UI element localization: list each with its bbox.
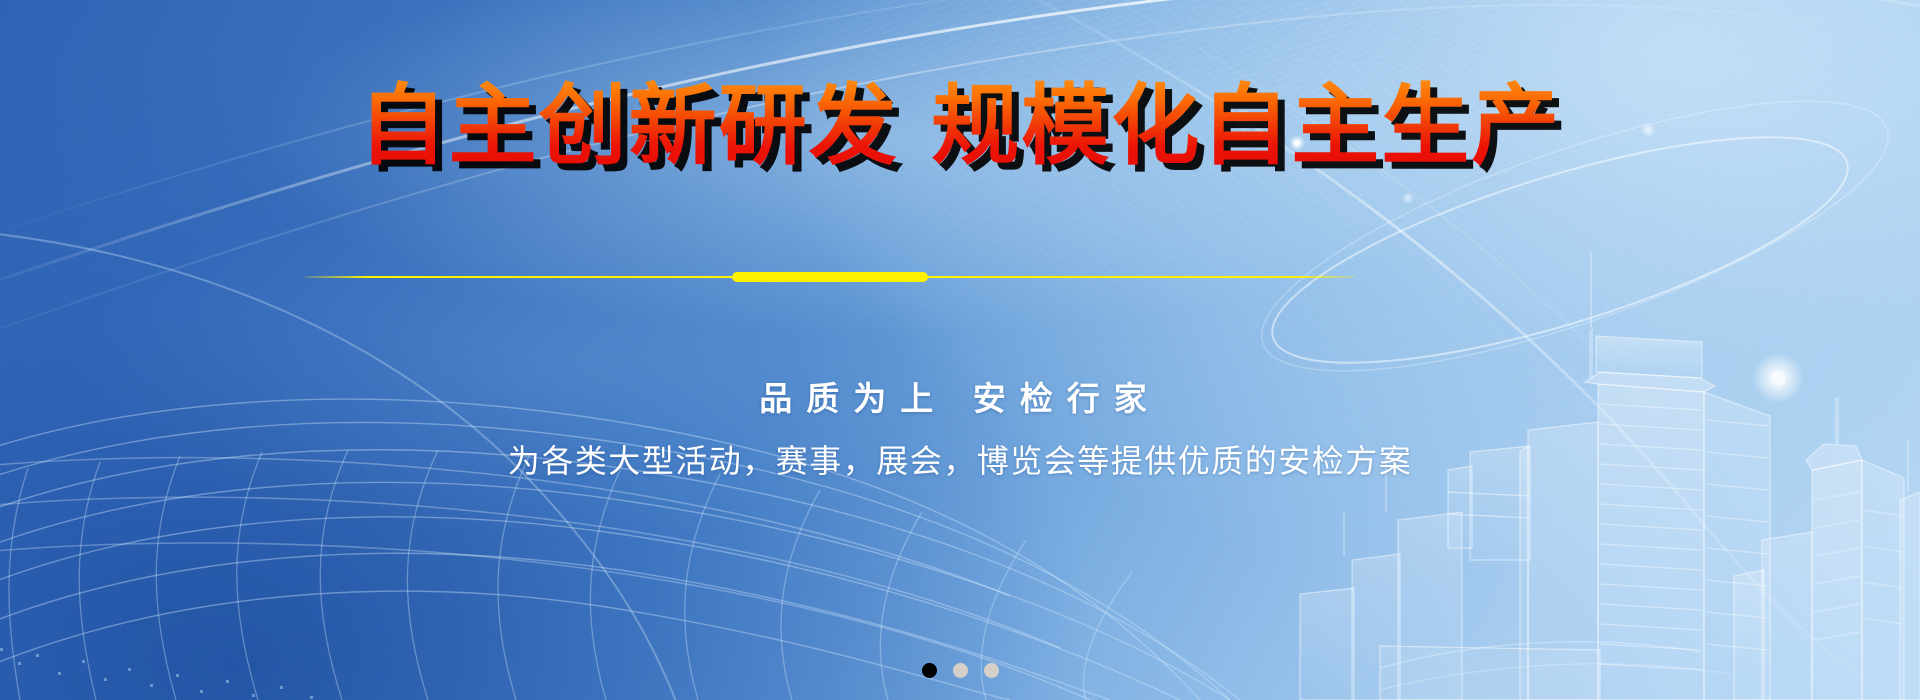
- divider-center-bar: [732, 272, 928, 282]
- carousel-dot-1[interactable]: [922, 663, 937, 678]
- banner-headline: 自主创新研发 规模化自主生产: [359, 80, 1562, 172]
- banner-subtitle-description: 为各类大型活动，赛事，展会，博览会等提供优质的安检方案: [0, 441, 1920, 483]
- carousel-dot-3[interactable]: [984, 663, 999, 678]
- subtitle-container: 品质为上 安检行家 为各类大型活动，赛事，展会，博览会等提供优质的安检方案: [0, 378, 1920, 483]
- headline-container: 自主创新研发 规模化自主生产: [0, 80, 1920, 172]
- carousel-dot-2[interactable]: [953, 663, 968, 678]
- hero-banner-slide: 自主创新研发 规模化自主生产 品质为上 安检行家 为各类大型活动，赛事，展会，博…: [0, 0, 1920, 700]
- banner-subtitle-main: 品质为上 安检行家: [0, 378, 1920, 419]
- yellow-divider: [305, 272, 1355, 282]
- carousel-dots: [0, 663, 1920, 678]
